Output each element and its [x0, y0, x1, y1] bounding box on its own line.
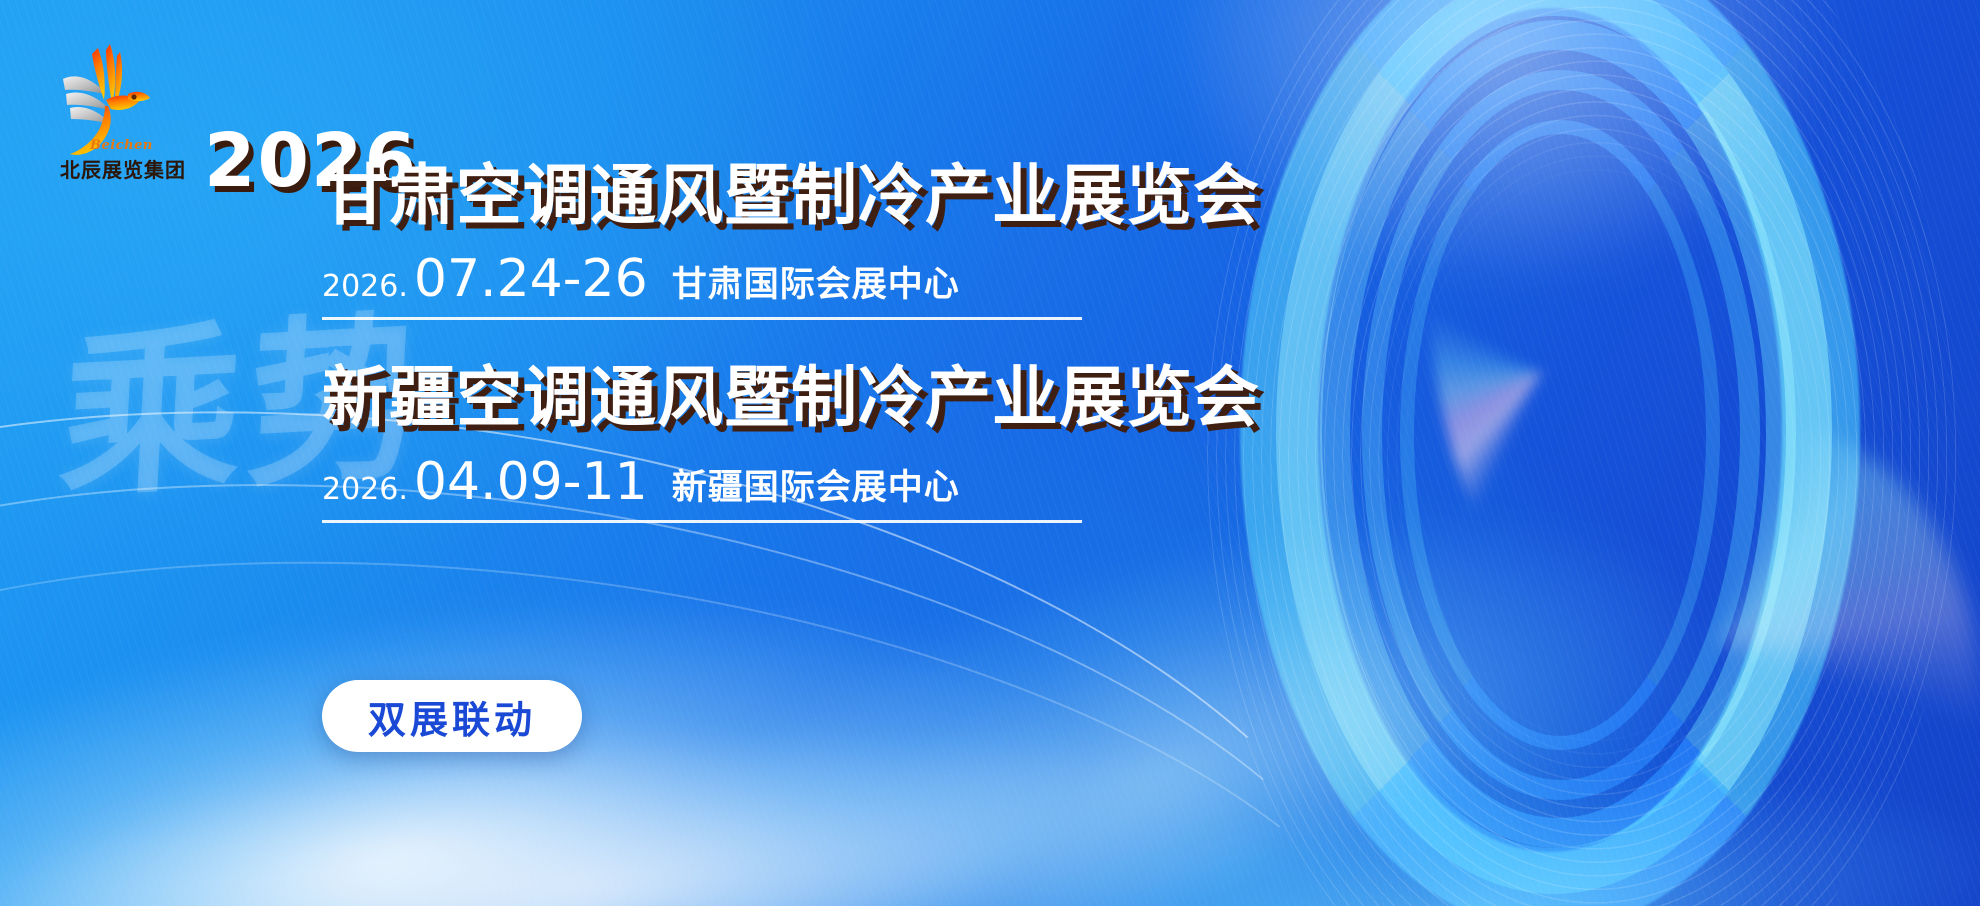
ring-outer [1240, 0, 1860, 906]
exhibition-banner: 乘势 [0, 0, 1980, 906]
exhibition-title-2: 新疆空调通风暨制冷产业展览会 [322, 362, 1322, 433]
exhibition-block-2: 新疆空调通风暨制冷产业展览会 2026. 04.09-11 新疆国际会展中心 [322, 362, 1322, 522]
exhibition-date-1: 07.24-26 [414, 249, 648, 309]
light-ribbon-4 [888, 734, 1980, 906]
light-ribbon-2 [0, 679, 1310, 906]
exhibition-title-1: 甘肃空调通风暨制冷产业展览会 [322, 160, 1322, 231]
exhibition-block-1: 甘肃空调通风暨制冷产业展览会 2026. 07.24-26 甘肃国际会展中心 [322, 160, 1322, 320]
ring-2 [1276, 0, 1832, 894]
ring-3 [1320, 20, 1796, 848]
ring-4 [1362, 70, 1760, 800]
iridescent-arc-top [1430, 0, 1980, 700]
exhibition-venue-2: 新疆国际会展中心 [672, 459, 960, 510]
exhibition-year-2: 2026. [322, 472, 408, 507]
light-ribbon-1 [0, 486, 1171, 906]
exhibition-venue-1: 甘肃国际会展中心 [672, 256, 960, 307]
dual-exhibition-badge-label: 双展联动 [368, 689, 536, 744]
light-arc-3 [0, 468, 1458, 906]
exhibition-date-2: 04.09-11 [414, 452, 648, 512]
ring-inner [1400, 120, 1720, 750]
logo-english-name: Beichen [90, 138, 153, 153]
brand-logo[interactable]: Beichen 北辰展览集团 2026 [56, 42, 326, 182]
exhibition-subline-2: 2026. 04.09-11 新疆国际会展中心 [322, 452, 1082, 523]
exhibition-info: 甘肃空调通风暨制冷产业展览会 2026. 07.24-26 甘肃国际会展中心 新… [322, 160, 1322, 523]
iridescent-arc-bottom [1540, 420, 1980, 906]
logo-chinese-name: 北辰展览集团 [60, 154, 186, 183]
exhibition-year-1: 2026. [322, 269, 408, 304]
dual-exhibition-badge[interactable]: 双展联动 [322, 680, 582, 752]
exhibition-subline-1: 2026. 07.24-26 甘肃国际会展中心 [322, 249, 1082, 320]
